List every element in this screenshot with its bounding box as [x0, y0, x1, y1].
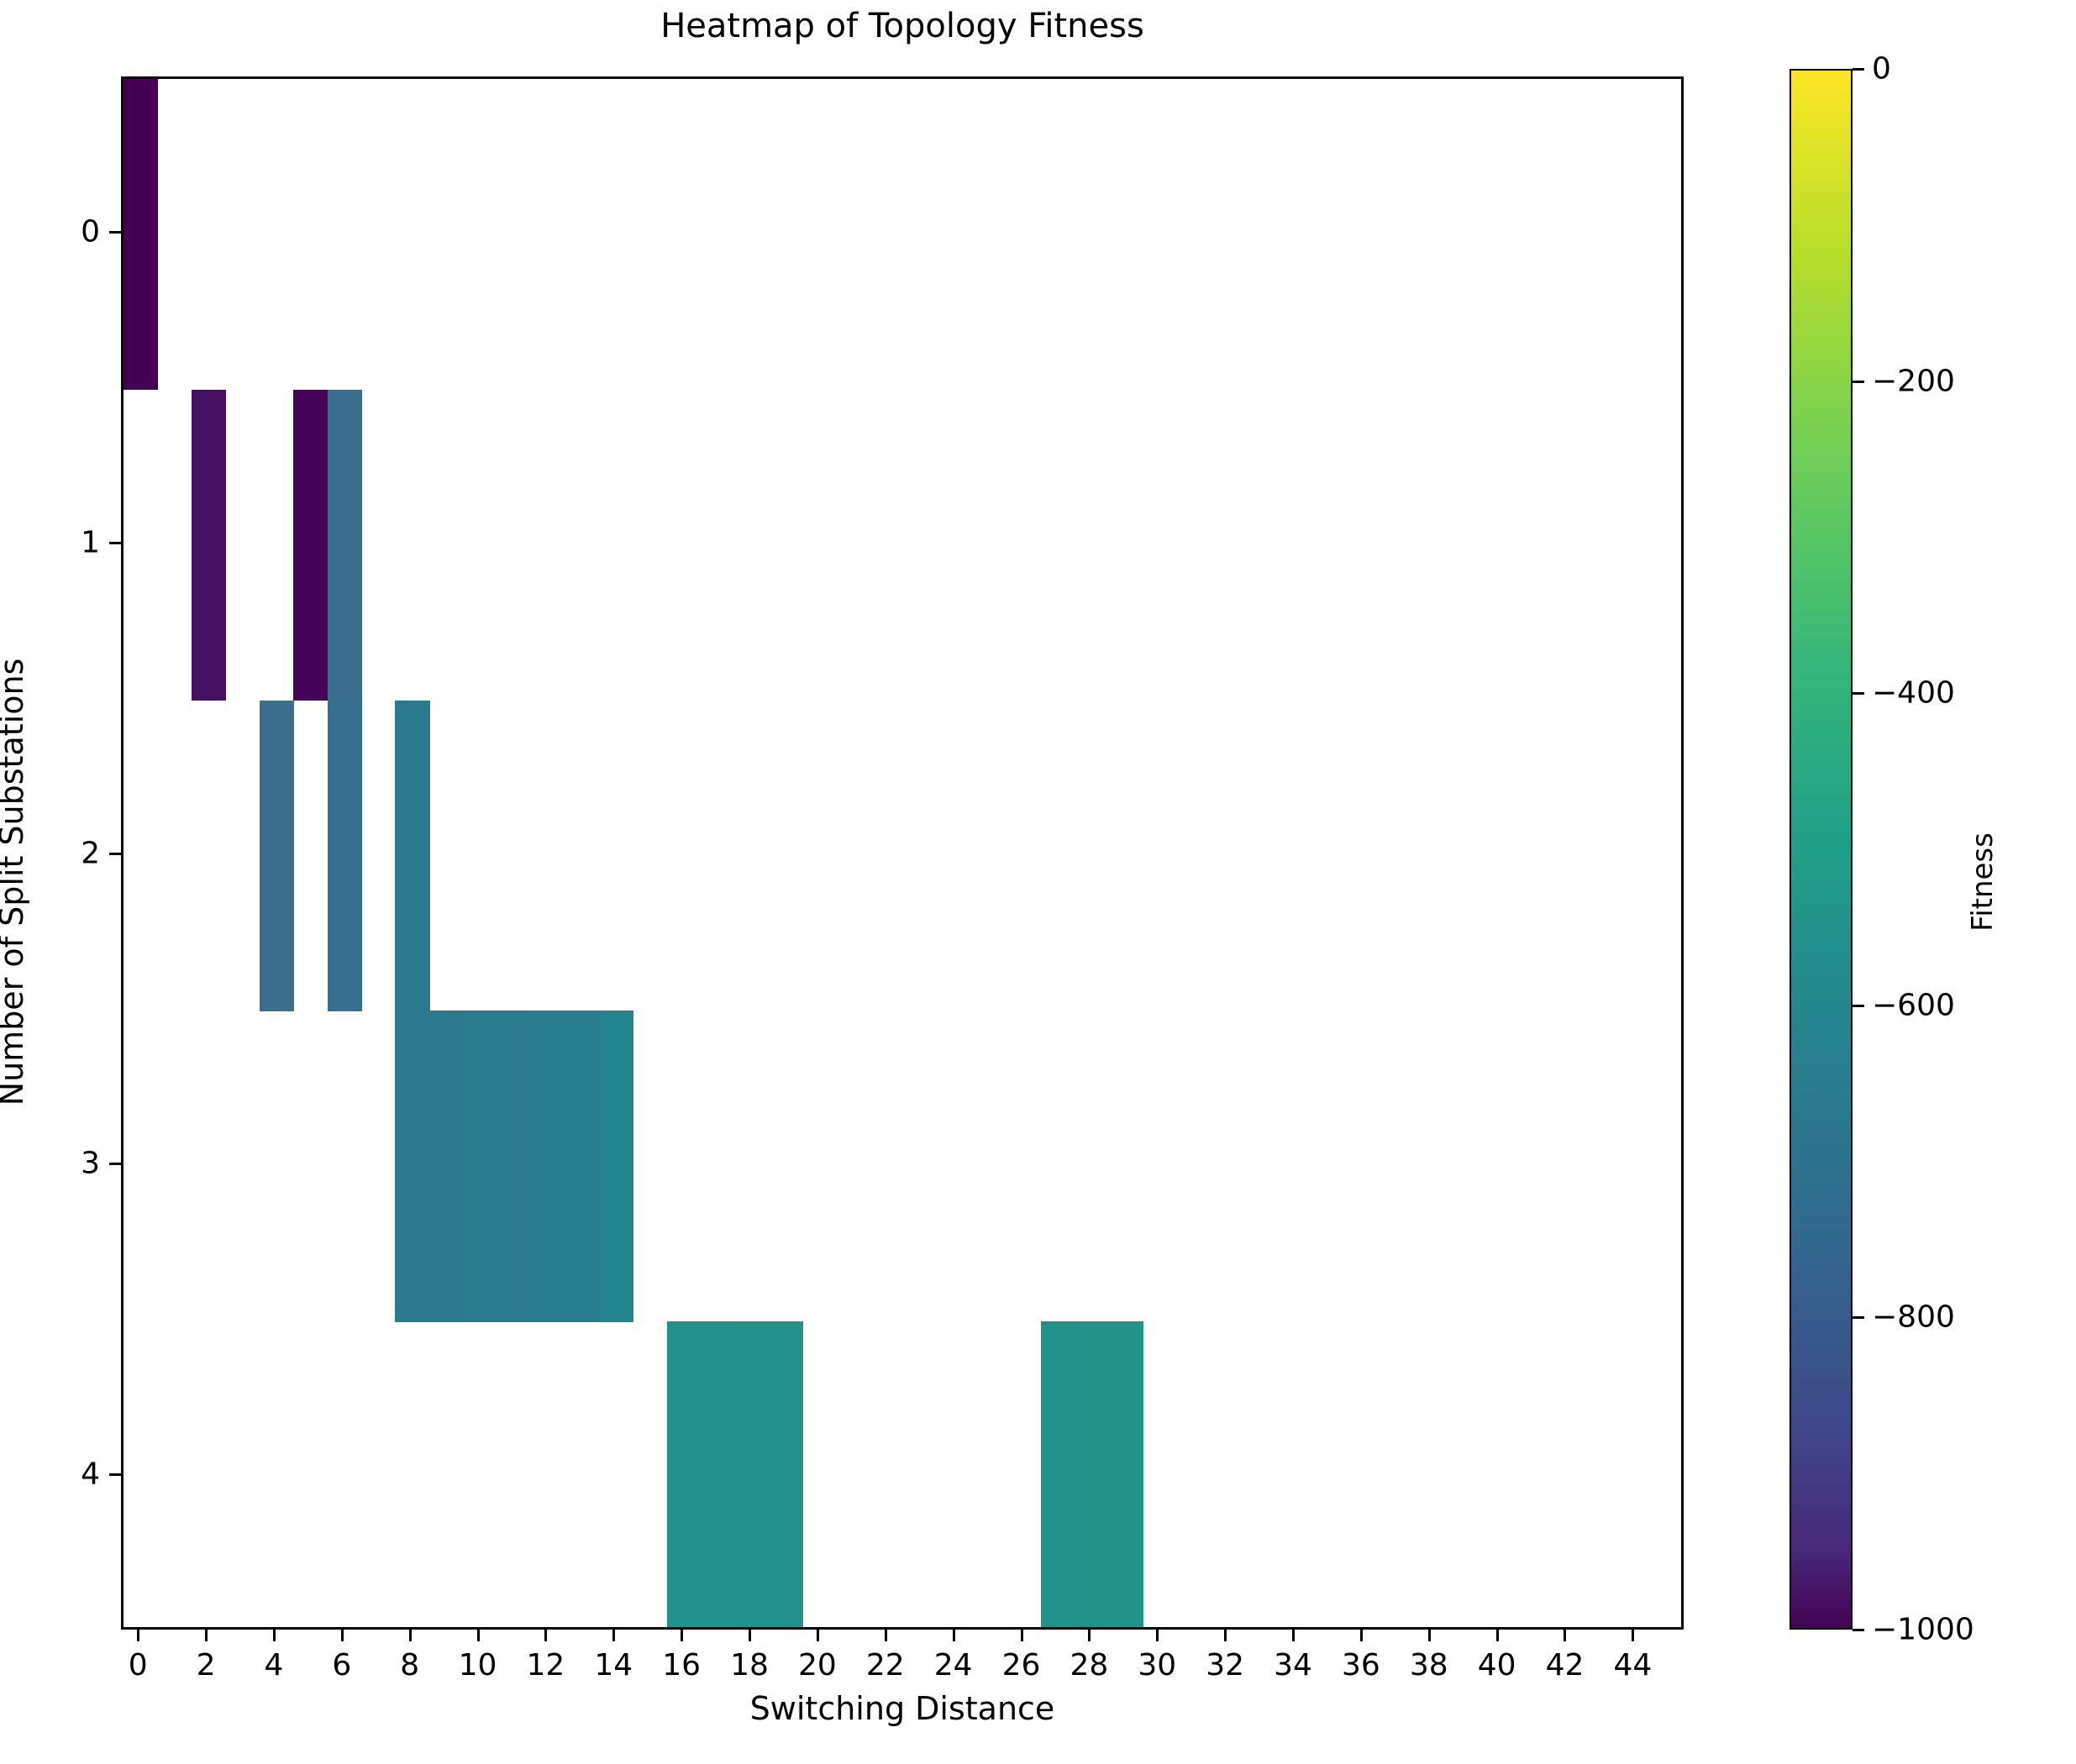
heatmap-cell: [1041, 1321, 1075, 1630]
colorbar-tick-mark: [1853, 381, 1864, 383]
heatmap-cell: [1075, 1321, 1109, 1630]
y-tick-label: 1: [12, 525, 100, 559]
x-tick-mark: [137, 1630, 139, 1641]
x-tick-label: 0: [129, 1648, 148, 1683]
heatmap-cell: [124, 79, 158, 390]
x-tick-mark: [1224, 1630, 1227, 1641]
colorbar-tick-label: 0: [1872, 52, 1891, 87]
colorbar-tick-mark: [1853, 692, 1864, 695]
x-tick-label: 12: [527, 1648, 565, 1683]
x-tick-mark: [1428, 1630, 1431, 1641]
x-tick-label: 20: [798, 1648, 837, 1683]
x-tick-mark: [341, 1630, 344, 1641]
x-tick-mark: [273, 1630, 276, 1641]
x-tick-mark: [1360, 1630, 1363, 1641]
heatmap-cell: [599, 1011, 633, 1321]
figure-canvas: Heatmap of Topology Fitness 01234 024681…: [0, 0, 2076, 1764]
x-tick-mark: [477, 1630, 480, 1641]
colorbar-tick-label: −400: [1872, 676, 1955, 711]
heatmap-cell: [667, 1321, 702, 1630]
heatmap-cell: [735, 1321, 770, 1630]
colorbar-tick-label: −600: [1872, 988, 1955, 1022]
colorbar-tick-mark: [1853, 1316, 1864, 1319]
heatmap-cell: [497, 1011, 532, 1321]
x-axis-label: Switching Distance: [121, 1690, 1684, 1727]
y-axis-label: Number of Split Substations: [0, 630, 30, 1134]
x-tick-label: 10: [459, 1648, 497, 1683]
x-tick-label: 14: [594, 1648, 633, 1683]
x-tick-label: 18: [730, 1648, 769, 1683]
y-tick-label: 0: [12, 214, 100, 249]
x-tick-mark: [681, 1630, 683, 1641]
chart-title: Heatmap of Topology Fitness: [121, 7, 1684, 45]
x-tick-mark: [1632, 1630, 1634, 1641]
colorbar-tick-mark: [1853, 68, 1864, 71]
heatmap-cell: [565, 1011, 600, 1321]
x-tick-mark: [409, 1630, 412, 1641]
heatmap-cell: [192, 390, 226, 701]
x-tick-mark: [1564, 1630, 1566, 1641]
heatmap-cell: [395, 1011, 429, 1321]
heatmap-cell: [328, 390, 362, 701]
colorbar-tick-mark: [1853, 1629, 1864, 1631]
x-tick-mark: [953, 1630, 955, 1641]
x-tick-mark: [1496, 1630, 1499, 1641]
x-tick-mark: [1156, 1630, 1159, 1641]
x-tick-label: 42: [1546, 1648, 1585, 1683]
x-tick-mark: [1021, 1630, 1023, 1641]
colorbar-tick-label: −800: [1872, 1300, 1955, 1335]
x-tick-label: 32: [1206, 1648, 1244, 1683]
heatmap-cell: [1109, 1321, 1143, 1630]
heatmap-cell: [701, 1321, 735, 1630]
x-tick-mark: [205, 1630, 208, 1641]
heatmap-cell: [328, 701, 362, 1011]
x-tick-label: 6: [332, 1648, 351, 1683]
x-tick-mark: [1088, 1630, 1091, 1641]
heatmap-cell: [769, 1321, 803, 1630]
heatmap-cell: [429, 1011, 464, 1321]
heatmap-cell: [531, 1011, 565, 1321]
heatmap-cell: [260, 701, 294, 1011]
x-tick-label: 28: [1070, 1648, 1108, 1683]
x-tick-label: 22: [866, 1648, 905, 1683]
colorbar-tick-label: −200: [1872, 364, 1955, 398]
x-tick-label: 8: [400, 1648, 419, 1683]
x-tick-mark: [612, 1630, 615, 1641]
heatmap-cell: [293, 390, 328, 701]
colorbar: [1790, 69, 1853, 1630]
x-tick-label: 24: [934, 1648, 973, 1683]
heatmap-plot-area: [121, 76, 1684, 1630]
x-tick-mark: [885, 1630, 887, 1641]
x-tick-mark: [1292, 1630, 1295, 1641]
x-tick-mark: [817, 1630, 819, 1641]
colorbar-tick-mark: [1853, 1005, 1864, 1007]
y-tick-mark: [109, 231, 121, 234]
colorbar-label: Fitness: [1966, 714, 2000, 1050]
heatmap-cell: [463, 1011, 497, 1321]
y-tick-mark: [109, 1473, 121, 1476]
x-tick-label: 44: [1613, 1648, 1652, 1683]
colorbar-gradient: [1791, 71, 1851, 1628]
x-tick-label: 38: [1410, 1648, 1448, 1683]
y-tick-label: 4: [12, 1457, 100, 1492]
x-tick-label: 26: [1002, 1648, 1041, 1683]
x-tick-label: 2: [197, 1648, 216, 1683]
x-tick-label: 4: [265, 1648, 284, 1683]
colorbar-tick-label: −1000: [1872, 1613, 1974, 1647]
x-tick-label: 40: [1478, 1648, 1516, 1683]
x-tick-label: 16: [662, 1648, 701, 1683]
y-tick-mark: [109, 542, 121, 544]
x-tick-label: 34: [1274, 1648, 1312, 1683]
x-tick-mark: [749, 1630, 751, 1641]
heatmap-cells: [124, 79, 1681, 1627]
heatmap-cell: [395, 701, 429, 1011]
x-tick-mark: [544, 1630, 547, 1641]
x-tick-label: 36: [1342, 1648, 1380, 1683]
y-tick-label: 3: [12, 1147, 100, 1181]
y-tick-mark: [109, 853, 121, 855]
y-tick-mark: [109, 1163, 121, 1165]
x-tick-label: 30: [1138, 1648, 1176, 1683]
